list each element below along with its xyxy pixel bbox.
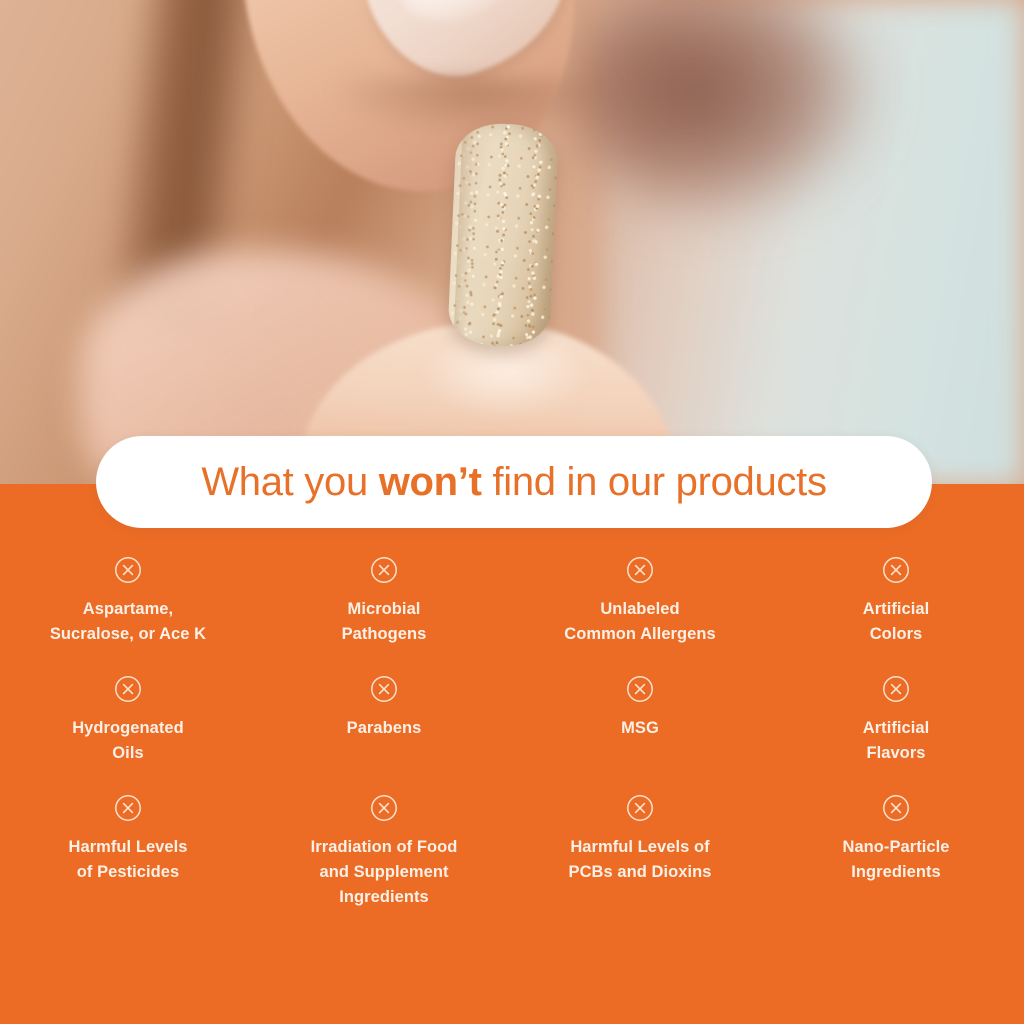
x-circle-icon — [114, 794, 142, 822]
headline-pill: What you won’t find in our products — [96, 436, 932, 528]
promo-graphic: Aspartame, Sucralose, or Ace K Microbial… — [0, 0, 1024, 1024]
exclusion-item: Harmful Levels of Pesticides — [0, 792, 256, 922]
exclusion-item: Hydrogenated Oils — [0, 673, 256, 792]
exclusion-item: Artificial Flavors — [768, 673, 1024, 792]
exclusion-label: Nano-Particle Ingredients — [842, 835, 949, 885]
x-circle-icon — [370, 675, 398, 703]
exclusion-item: Nano-Particle Ingredients — [768, 792, 1024, 922]
page-title: What you won’t find in our products — [201, 460, 826, 505]
x-circle-icon — [626, 556, 654, 584]
exclusions-grid: Aspartame, Sucralose, or Ace K Microbial… — [0, 554, 1024, 922]
exclusion-label: Irradiation of Food and Supplement Ingre… — [311, 835, 458, 911]
exclusion-label: MSG — [621, 716, 659, 741]
x-circle-icon — [114, 675, 142, 703]
exclusion-item: Aspartame, Sucralose, or Ace K — [0, 554, 256, 673]
exclusion-item: Unlabeled Common Allergens — [512, 554, 768, 673]
x-circle-icon — [626, 675, 654, 703]
exclusion-item: Artificial Colors — [768, 554, 1024, 673]
x-circle-icon — [882, 794, 910, 822]
x-circle-icon — [370, 556, 398, 584]
x-circle-icon — [882, 675, 910, 703]
exclusion-label: Aspartame, Sucralose, or Ace K — [50, 597, 206, 647]
exclusion-label: Unlabeled Common Allergens — [564, 597, 715, 647]
exclusion-label: Artificial Flavors — [863, 716, 930, 766]
product-photo — [0, 0, 1024, 486]
x-circle-icon — [626, 794, 654, 822]
exclusion-item: Irradiation of Food and Supplement Ingre… — [256, 792, 512, 922]
exclusion-label: Microbial Pathogens — [342, 597, 427, 647]
headline-part2: find in our products — [482, 460, 827, 504]
exclusion-item: MSG — [512, 673, 768, 792]
supplement-tablet — [447, 122, 559, 348]
exclusion-label: Hydrogenated Oils — [72, 716, 184, 766]
exclusion-label: Harmful Levels of Pesticides — [69, 835, 188, 885]
exclusion-label: Artificial Colors — [863, 597, 930, 647]
headline-emphasis: won’t — [379, 460, 482, 504]
exclusion-item: Harmful Levels of PCBs and Dioxins — [512, 792, 768, 922]
x-circle-icon — [114, 556, 142, 584]
exclusion-item: Parabens — [256, 673, 512, 792]
headline-part1: What you — [201, 460, 378, 504]
exclusion-item: Microbial Pathogens — [256, 554, 512, 673]
x-circle-icon — [882, 556, 910, 584]
exclusion-label: Harmful Levels of PCBs and Dioxins — [569, 835, 712, 885]
photo-finger-highlight — [420, 338, 590, 418]
grid-row: Aspartame, Sucralose, or Ace K Microbial… — [0, 554, 1024, 673]
grid-row: Harmful Levels of Pesticides Irradiation… — [0, 792, 1024, 922]
orange-content-band: Aspartame, Sucralose, or Ace K Microbial… — [0, 484, 1024, 1024]
x-circle-icon — [370, 794, 398, 822]
exclusion-label: Parabens — [347, 716, 422, 741]
grid-row: Hydrogenated Oils Parabens — [0, 673, 1024, 792]
